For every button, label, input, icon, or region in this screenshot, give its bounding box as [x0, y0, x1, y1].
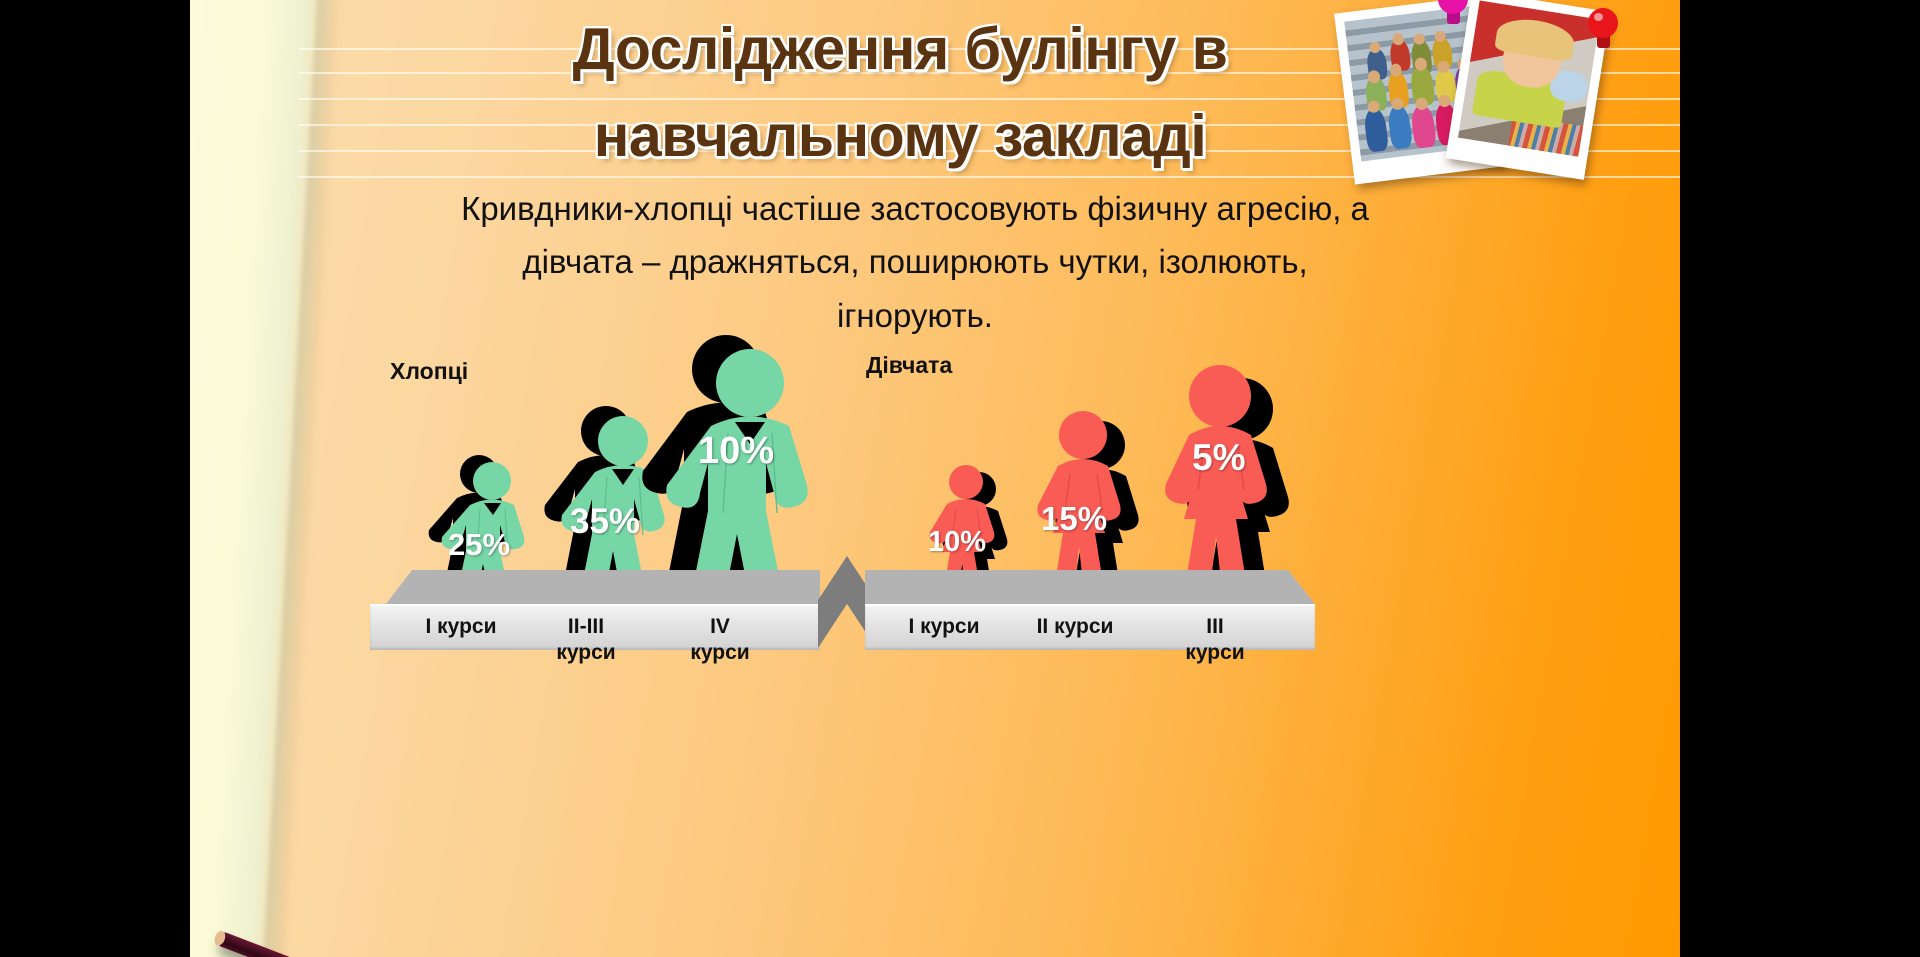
magenta-pushpin-icon: [1436, 0, 1470, 28]
girls-value-2: 15%: [1041, 500, 1107, 538]
boys-caption-1: I курси: [396, 614, 526, 640]
girls-value-1: 10%: [928, 526, 986, 559]
presentation-slide: Дослідження булінгу в навчальному заклад…: [190, 0, 1680, 957]
pictograph-chart: Хлопці Дівчата 25%: [190, 330, 1680, 730]
boys-value-1: 25%: [448, 527, 510, 563]
body-line-1: Кривдники-хлопці частіше застосовують фі…: [250, 182, 1580, 235]
boys-figure-1: 25%: [440, 455, 545, 590]
girls-caption-3: III курси: [1155, 614, 1275, 667]
red-pushpin-icon: [1586, 8, 1620, 52]
boys-caption-1-line1: I курси: [396, 614, 526, 640]
girls-caption-1-line1: I курси: [879, 614, 1009, 640]
girls-figure-2: 15%: [1025, 402, 1160, 590]
girls-caption-2-line1: II курси: [1005, 614, 1145, 640]
boys-caption-2-line2: курси: [526, 640, 646, 666]
boys-figure-3: 10%: [660, 338, 840, 590]
boys-caption-3-line2: курси: [660, 640, 780, 666]
boys-value-3: 10%: [698, 430, 774, 473]
smiling-girl-photo-image: [1458, 0, 1600, 156]
boys-group-label: Хлопці: [390, 358, 468, 385]
girls-group-label: Дівчата: [866, 352, 952, 379]
girls-value-3: 5%: [1192, 437, 1245, 479]
boys-caption-3-line1: IV: [660, 614, 780, 640]
girls-caption-2: II курси: [1005, 614, 1145, 640]
boys-caption-2-line1: II-III: [526, 614, 646, 640]
slide-title-line-2: навчальному закладі: [340, 93, 1460, 180]
boys-caption-3: IV курси: [660, 614, 780, 667]
girls-caption-3-line2: курси: [1155, 640, 1275, 666]
boys-caption-2: II-III курси: [526, 614, 646, 667]
girls-caption-3-line1: III: [1155, 614, 1275, 640]
boys-value-2: 35%: [570, 502, 640, 542]
screenshot-stage: Дослідження булінгу в навчальному заклад…: [0, 0, 1920, 957]
slide-body-text: Кривдники-хлопці частіше застосовують фі…: [250, 182, 1580, 342]
slide-title: Дослідження булінгу в навчальному заклад…: [340, 6, 1460, 179]
girls-caption-1: I курси: [879, 614, 1009, 640]
photo-collage: [1330, 0, 1660, 190]
body-line-2: дівчата – дражняться, поширюють чутки, і…: [250, 235, 1580, 288]
slide-title-line-1: Дослідження булінгу в: [340, 6, 1460, 93]
girls-figure-3: 5%: [1150, 355, 1315, 590]
